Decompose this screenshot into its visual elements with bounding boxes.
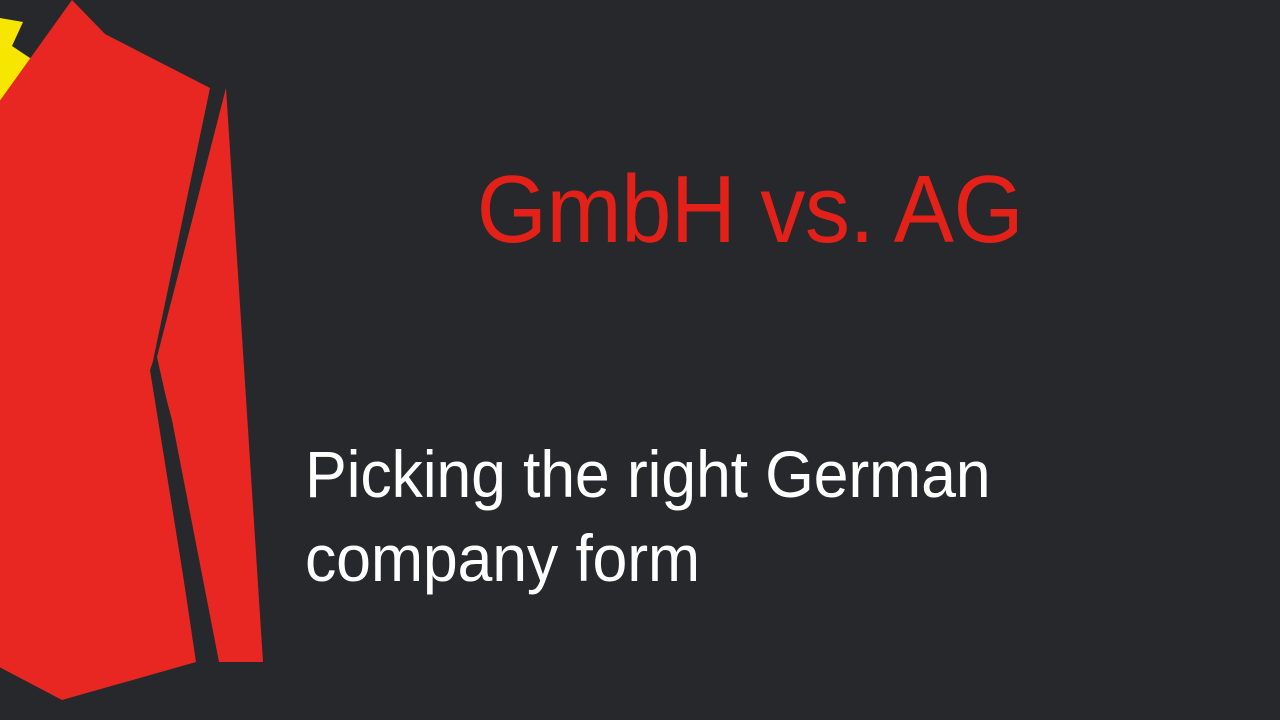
slide-subtitle: Picking the right German company form — [305, 432, 1151, 601]
subtitle-block: Picking the right German company form — [305, 432, 1195, 601]
slide-title: GmbH vs. AG — [327, 160, 1173, 261]
slide-content: GmbH vs. AG Picking the right German com… — [0, 0, 1280, 720]
presentation-slide: GmbH vs. AG Picking the right German com… — [0, 0, 1280, 720]
title-block: GmbH vs. AG — [300, 160, 1200, 261]
